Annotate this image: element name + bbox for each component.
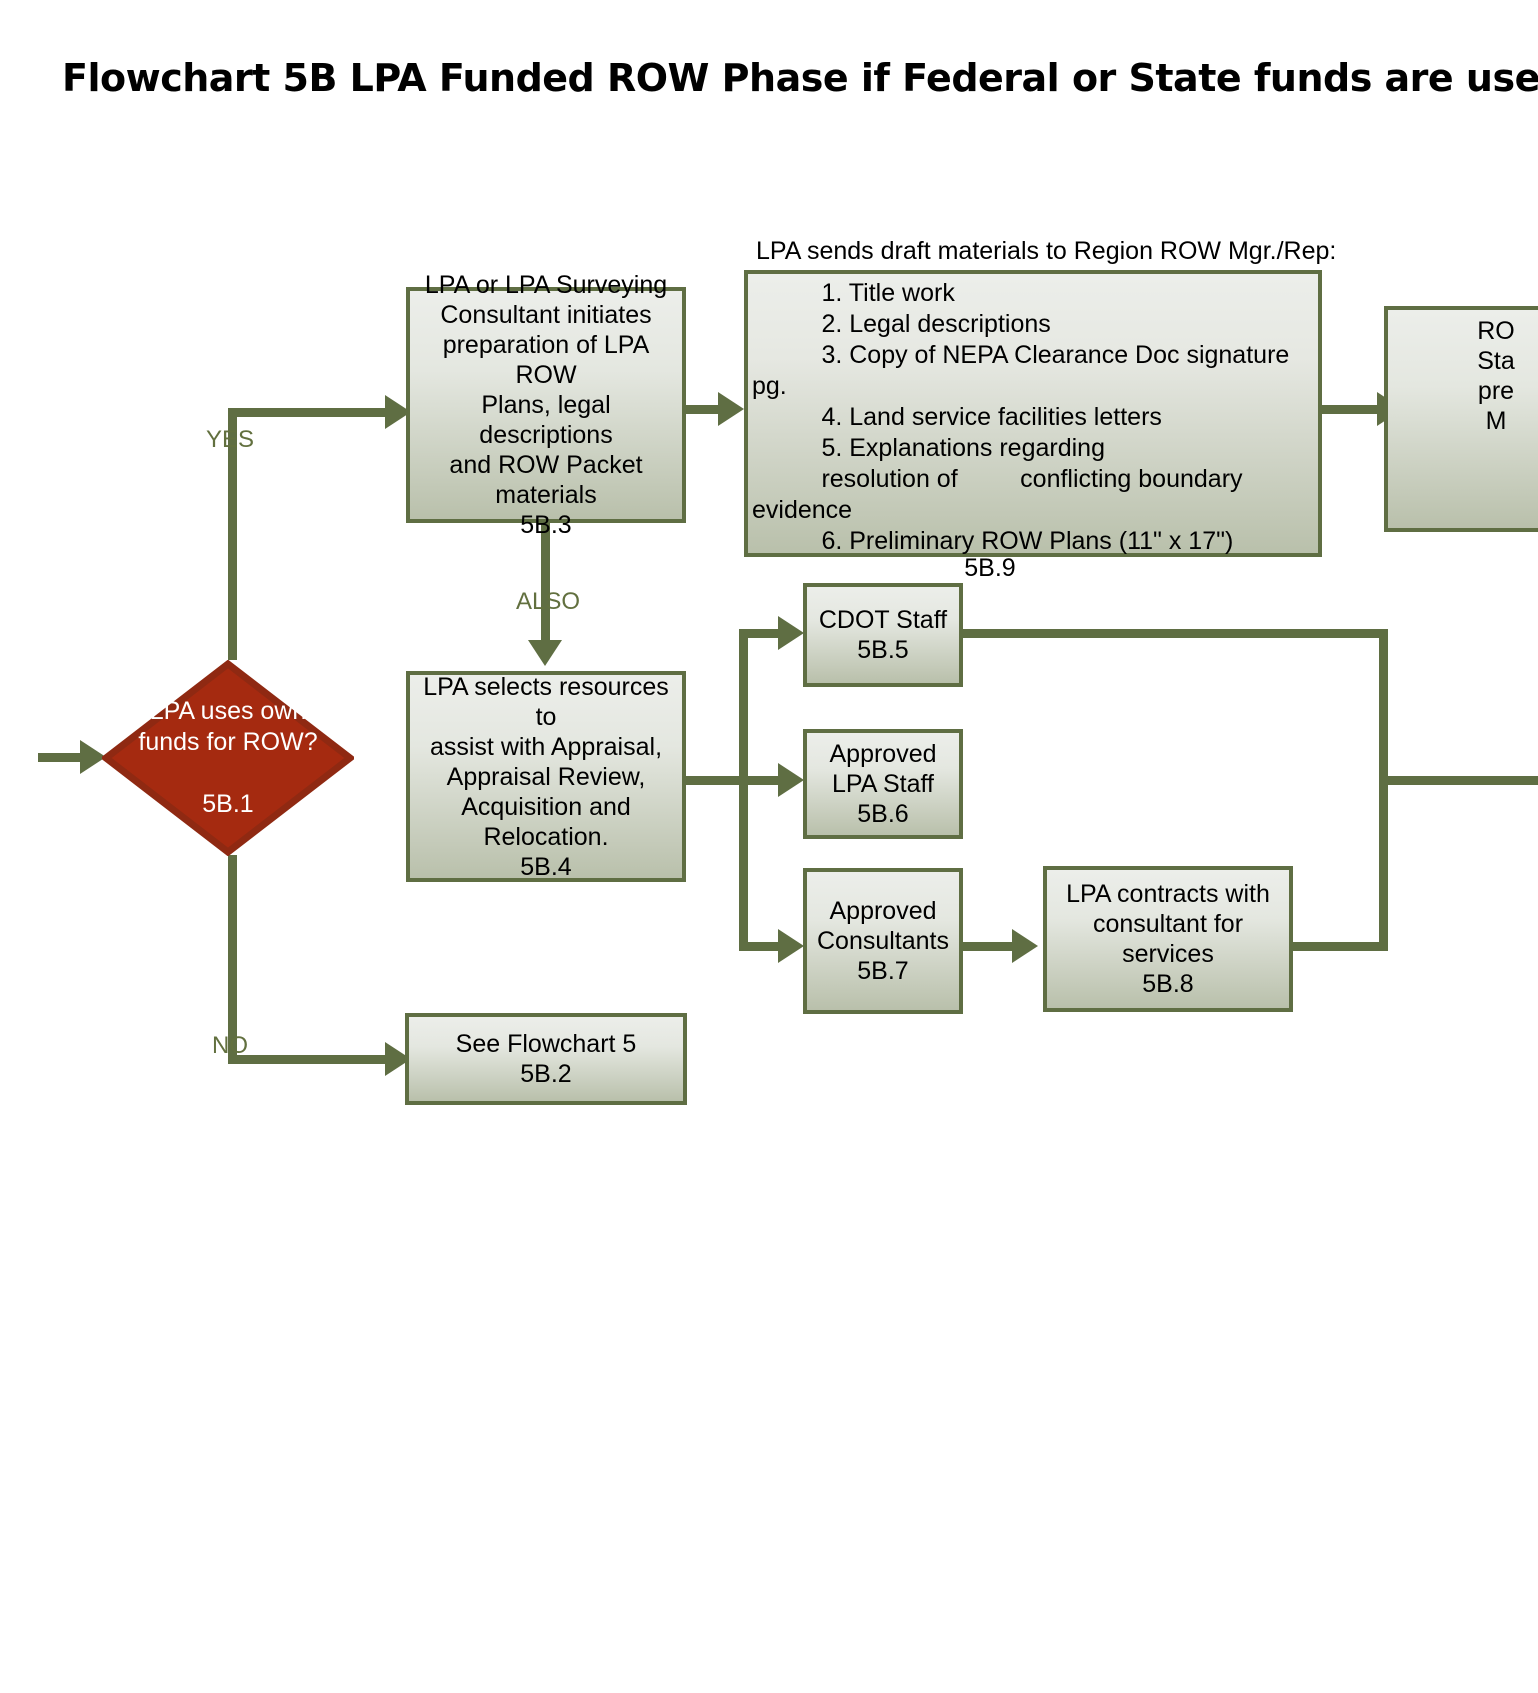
node-5b2-text: See Flowchart 5 — [456, 1029, 637, 1059]
diamond-shape — [102, 660, 354, 856]
node-5b9-ref: 5B.9 — [945, 553, 1035, 583]
connector-5b5-rail — [963, 629, 1388, 638]
connector-5b3-to-5b4 — [541, 522, 550, 642]
connector-5b8-rail — [1292, 942, 1388, 951]
arrowhead-5b3-to-5b4 — [528, 640, 562, 666]
node-row-staff-partial[interactable]: RO Sta pre M — [1384, 306, 1538, 532]
node-5b4-text: LPA selects resources to assist with App… — [414, 672, 678, 852]
node-row-staff-partial-text: RO Sta pre M — [1414, 316, 1538, 436]
node-5b7-ref: 5B.7 — [857, 956, 908, 986]
connector-merged-rail-out — [1379, 776, 1538, 785]
connector-5b5-rail-down — [1379, 629, 1388, 784]
node-5b9-lpa-sends-draft-materials[interactable]: LPA sends draft materials to Region ROW … — [744, 270, 1322, 557]
node-5b5-ref: 5B.5 — [857, 635, 908, 665]
node-5b6-text: Approved LPA Staff — [829, 739, 936, 799]
arrowhead-to-5b5 — [778, 616, 804, 650]
edge-label-yes: YES — [206, 426, 254, 454]
node-5b5-text: CDOT Staff — [819, 605, 947, 635]
node-5b8-ref: 5B.8 — [1142, 969, 1193, 999]
page-title: Flowchart 5B LPA Funded ROW Phase if Fed… — [62, 56, 1538, 100]
connector-decision-yes-horz — [228, 408, 390, 417]
edge-label-no: NO — [212, 1032, 248, 1060]
node-5b2-see-flowchart-5[interactable]: See Flowchart 5 5B.2 — [405, 1013, 687, 1105]
connector-fan-trunk — [739, 629, 748, 951]
node-5b4-ref: 5B.4 — [520, 852, 571, 882]
node-5b8-lpa-contracts[interactable]: LPA contracts with consultant for servic… — [1043, 866, 1293, 1012]
node-5b7-text: Approved Consultants — [817, 896, 949, 956]
arrowhead-5b7-to-5b8 — [1012, 929, 1038, 963]
node-5b4-lpa-selects-resources[interactable]: LPA selects resources to assist with App… — [406, 671, 686, 882]
connector-5b9-to-rowstaff — [1322, 405, 1384, 414]
arrowhead-to-5b6 — [778, 763, 804, 797]
node-5b3-text: LPA or LPA Surveying Consultant initiate… — [414, 270, 678, 510]
node-5b9-items: 1. Title work 2. Legal descriptions 3. C… — [752, 278, 1322, 557]
arrowhead-to-5b7 — [778, 929, 804, 963]
node-5b3-ref: 5B.3 — [520, 510, 571, 540]
edge-label-also: ALSO — [516, 588, 580, 616]
arrowhead-5b3-to-5b9 — [718, 392, 744, 426]
node-5b7-approved-consultants[interactable]: Approved Consultants 5B.7 — [803, 868, 963, 1014]
node-5b2-ref: 5B.2 — [520, 1059, 571, 1089]
connector-decision-no-vert — [228, 855, 237, 1060]
node-5b9-heading: LPA sends draft materials to Region ROW … — [756, 236, 1336, 267]
flowchart-canvas: Flowchart 5B LPA Funded ROW Phase if Fed… — [0, 0, 1538, 1693]
node-5b3-lpa-initiates[interactable]: LPA or LPA Surveying Consultant initiate… — [406, 287, 686, 523]
node-5b6-approved-lpa-staff[interactable]: Approved LPA Staff 5B.6 — [803, 729, 963, 839]
node-5b6-ref: 5B.6 — [857, 799, 908, 829]
connector-5b8-rail-up — [1379, 776, 1388, 951]
decision-node-5b1[interactable]: LPA uses own funds for ROW? 5B.1 — [102, 660, 354, 856]
connector-in-to-decision — [38, 753, 84, 762]
node-5b8-text: LPA contracts with consultant for servic… — [1066, 879, 1270, 969]
connector-decision-no-horz — [228, 1055, 390, 1064]
node-5b5-cdot-staff[interactable]: CDOT Staff 5B.5 — [803, 583, 963, 687]
